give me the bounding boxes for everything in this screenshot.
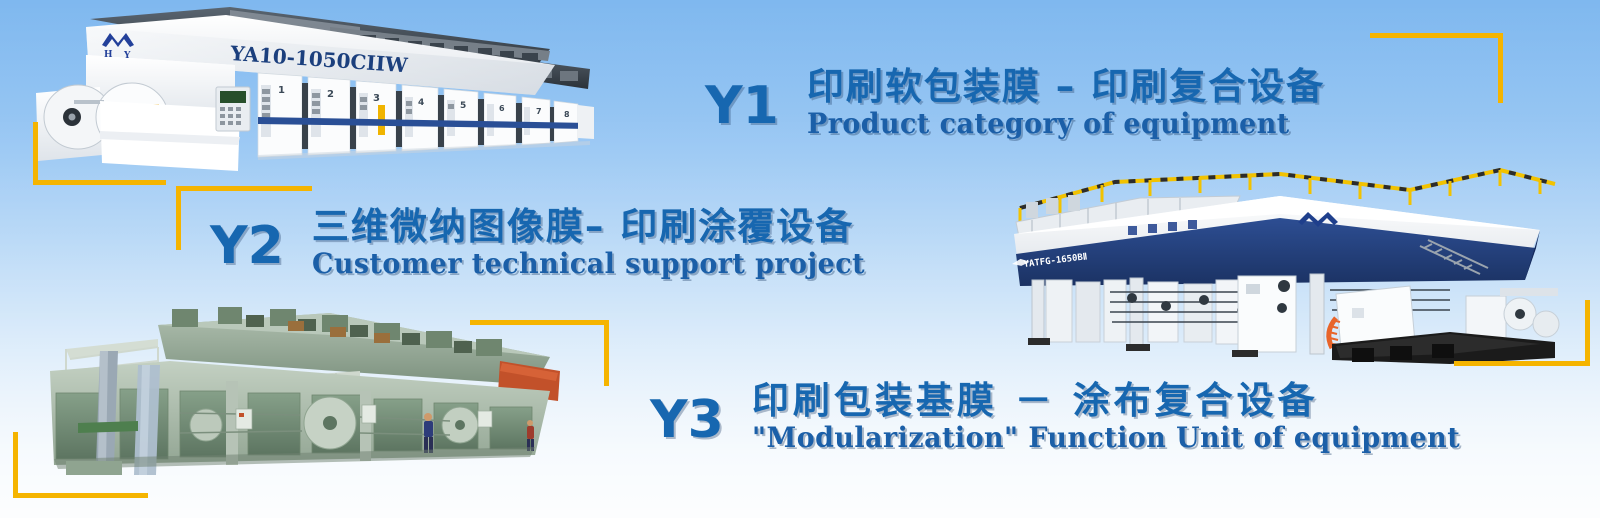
svg-text:4: 4 xyxy=(418,98,424,108)
y1-title-cn: 印刷软包装膜 – 印刷复合设备 xyxy=(807,66,1325,108)
bracket-right-horizontal xyxy=(1454,361,1590,366)
bracket-mid-vertical xyxy=(604,320,609,386)
y2-title-cn: 三维微纳图像膜– 印刷涂覆设备 xyxy=(312,206,888,248)
y3-title-cn: 印刷包装基膜 － 涂布复合设备 xyxy=(752,380,1490,422)
svg-text:7: 7 xyxy=(536,107,542,116)
bracket-top-left-horizontal xyxy=(33,180,166,185)
y3-title-en: "Modularization" Function Unit of equipm… xyxy=(752,422,1460,454)
photo-rotogravure-press: YA10-1050CIIW H Y xyxy=(30,5,595,180)
y1-title-en: Product category of equipment xyxy=(807,108,1305,140)
y3-code: Y3 xyxy=(650,394,724,446)
bracket-bottom-left-vertical xyxy=(13,432,18,498)
bracket-right-vertical xyxy=(1585,300,1590,366)
bracket-top-right-vertical xyxy=(1498,33,1503,103)
svg-text:5: 5 xyxy=(460,101,466,111)
bracket-mid-horizontal xyxy=(470,320,609,325)
text-group-y3: Y3 印刷包装基膜 － 涂布复合设备 "Modularization" Func… xyxy=(650,380,1489,454)
bracket-y2-horizontal xyxy=(176,186,312,191)
svg-text:H: H xyxy=(104,50,113,60)
svg-text:2: 2 xyxy=(327,89,334,100)
photo-coating-laminating-line: YATFG-1650BⅡ xyxy=(980,168,1565,368)
svg-text:Y: Y xyxy=(123,51,131,61)
bracket-y2-vertical xyxy=(176,186,181,250)
y2-code: Y2 xyxy=(210,220,284,272)
bracket-top-left-vertical xyxy=(33,122,38,184)
y1-code: Y1 xyxy=(705,80,779,132)
bracket-bottom-left-horizontal xyxy=(13,493,148,498)
svg-text:3: 3 xyxy=(373,93,380,104)
text-group-y1: Y1 印刷软包装膜 – 印刷复合设备 Product category of e… xyxy=(705,66,1325,140)
bracket-top-right-horizontal xyxy=(1370,33,1503,38)
promo-banner: YA10-1050CIIW H Y xyxy=(0,0,1600,518)
photo-base-film-coating-line xyxy=(30,305,575,480)
svg-text:1: 1 xyxy=(278,85,285,96)
y2-title-en: Customer technical support project xyxy=(312,248,865,280)
svg-text:6: 6 xyxy=(499,104,505,113)
text-group-y2: Y2 三维微纳图像膜– 印刷涂覆设备 Customer technical su… xyxy=(210,206,888,280)
svg-text:8: 8 xyxy=(564,110,570,119)
